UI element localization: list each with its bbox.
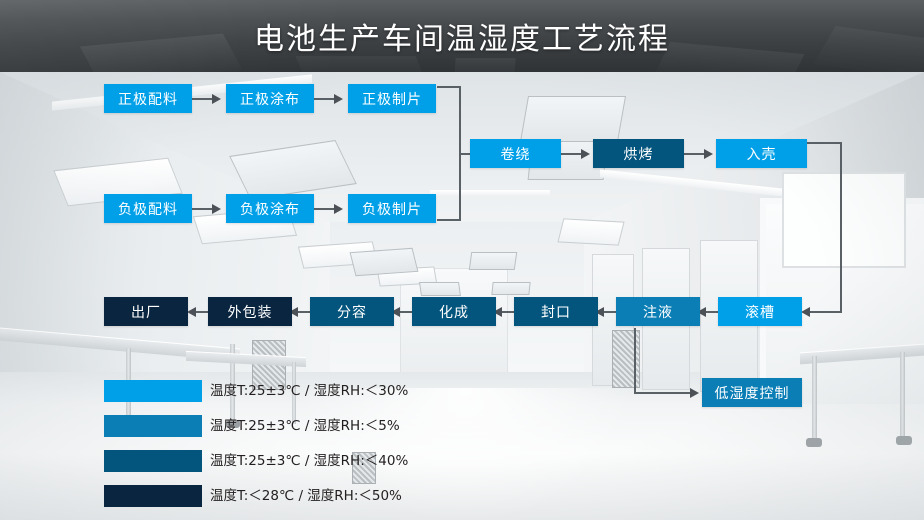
arrow-icon: [801, 307, 810, 317]
legend-label: 温度T:25±3℃ / 湿度RH:＜5%: [210, 414, 400, 434]
arrow-icon: [212, 94, 221, 104]
node-juanrao[interactable]: 卷绕: [470, 139, 561, 168]
arrow-icon: [334, 94, 343, 104]
legend-item: 温度T:＜28℃ / 湿度RH:＜50%: [104, 485, 524, 520]
connector-line: [192, 98, 214, 100]
node-zhuye[interactable]: 注液: [616, 297, 700, 326]
connector-line: [684, 153, 706, 155]
legend-item: 温度T:25±3℃ / 湿度RH:＜5%: [104, 415, 524, 450]
arrow-icon: [334, 204, 343, 214]
node-chuchang[interactable]: 出厂: [104, 297, 188, 326]
legend-swatch: [104, 380, 202, 402]
arrow-icon: [704, 149, 713, 159]
legend-label: 温度T:＜28℃ / 湿度RH:＜50%: [210, 484, 402, 504]
page-title: 电池生产车间温湿度工艺流程: [0, 0, 924, 72]
connector-line: [437, 219, 461, 221]
arrow-icon: [187, 307, 196, 317]
node-zhengji-zhipian[interactable]: 正极制片: [348, 84, 436, 113]
connector-line: [810, 311, 842, 313]
node-hongkao[interactable]: 烘烤: [593, 139, 684, 168]
node-fenrong[interactable]: 分容: [310, 297, 394, 326]
node-huacheng[interactable]: 化成: [412, 297, 496, 326]
arrow-icon: [581, 149, 590, 159]
connector-line: [806, 142, 842, 144]
connector-line: [634, 392, 692, 394]
node-fuji-peiliao[interactable]: 负极配料: [104, 194, 192, 223]
legend-item: 温度T:25±3℃ / 湿度RH:＜40%: [104, 450, 524, 485]
connector-line: [840, 142, 842, 312]
connector-line: [561, 153, 583, 155]
node-guncao[interactable]: 滚槽: [718, 297, 802, 326]
connector-line: [634, 328, 636, 394]
node-zhengji-peiliao[interactable]: 正极配料: [104, 84, 192, 113]
legend-swatch: [104, 485, 202, 507]
node-fengkou[interactable]: 封口: [514, 297, 598, 326]
connector-line: [314, 208, 336, 210]
legend: 温度T:25±3℃ / 湿度RH:＜30% 温度T:25±3℃ / 湿度RH:＜…: [104, 380, 524, 520]
connector-line: [437, 86, 461, 88]
node-dishidu-kongzhi[interactable]: 低湿度控制: [702, 378, 802, 407]
arrow-icon: [212, 204, 221, 214]
connector-line: [192, 208, 214, 210]
legend-label: 温度T:25±3℃ / 湿度RH:＜40%: [210, 449, 408, 469]
node-zhengji-tubu[interactable]: 正极涂布: [226, 84, 314, 113]
legend-label: 温度T:25±3℃ / 湿度RH:＜30%: [210, 379, 408, 399]
legend-swatch: [104, 450, 202, 472]
legend-item: 温度T:25±3℃ / 湿度RH:＜30%: [104, 380, 524, 415]
slide-canvas: 电池生产车间温湿度工艺流程: [0, 0, 924, 520]
node-fuji-tubu[interactable]: 负极涂布: [226, 194, 314, 223]
node-waibaozhuang[interactable]: 外包装: [208, 297, 292, 326]
connector-line: [314, 98, 336, 100]
legend-swatch: [104, 415, 202, 437]
node-ruke[interactable]: 入壳: [716, 139, 807, 168]
arrow-icon: [690, 388, 699, 398]
node-fuji-zhipian[interactable]: 负极制片: [348, 194, 436, 223]
